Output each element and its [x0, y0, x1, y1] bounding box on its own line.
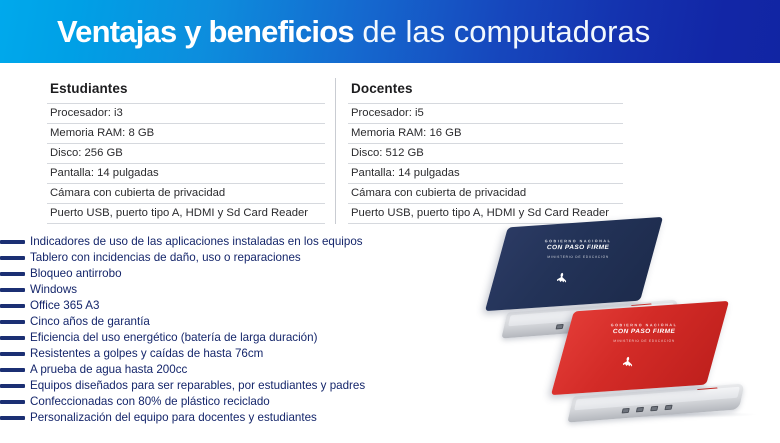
column-header-estudiantes: Estudiantes: [47, 78, 325, 103]
dash-bullet-icon: [0, 416, 25, 420]
table-row: Pantalla: 14 pulgadas: [348, 163, 623, 183]
list-item: Windows: [0, 282, 430, 298]
laptop-lid: GOBIERNO NACIONAL CON PASO FIRME MINISTE…: [485, 217, 663, 311]
list-item: A prueba de agua hasta 200cc: [0, 362, 430, 378]
laptop-lid-logo: GOBIERNO NACIONAL CON PASO FIRME MINISTE…: [500, 239, 656, 259]
table-row: Disco: 256 GB: [47, 143, 325, 163]
table-row: Procesador: i5: [348, 103, 623, 123]
table-row: Cámara con cubierta de privacidad: [47, 183, 325, 203]
spec-comparison-table: Estudiantes Procesador: i3 Memoria RAM: …: [47, 78, 623, 214]
dash-bullet-icon: [0, 368, 25, 372]
list-item: Eficiencia del uso energético (batería d…: [0, 330, 430, 346]
table-row: Puerto USB, puerto tipo A, HDMI y Sd Car…: [348, 203, 623, 224]
list-item-label: Office 365 A3: [30, 299, 99, 312]
table-row: Puerto USB, puerto tipo A, HDMI y Sd Car…: [47, 203, 325, 224]
header-banner: Ventajas y beneficios de las computadora…: [0, 0, 780, 63]
table-row: Memoria RAM: 16 GB: [348, 123, 623, 143]
dash-bullet-icon: [0, 384, 25, 388]
list-item-label: Cinco años de garantía: [30, 315, 150, 328]
table-row: Procesador: i3: [47, 103, 325, 123]
table-row: Disco: 512 GB: [348, 143, 623, 163]
list-item-label: Personalización del equipo para docentes…: [30, 411, 317, 424]
list-item: Resistentes a golpes y caídas de hasta 7…: [0, 346, 430, 362]
card-reader-port-icon: [664, 405, 672, 411]
dash-bullet-icon: [0, 256, 25, 260]
lid-brand-main: CON PASO FIRME: [500, 244, 656, 251]
lid-emblem-icon: [554, 271, 570, 287]
list-item: Confeccionadas con 80% de plástico recic…: [0, 394, 430, 410]
lid-brand-small: GOBIERNO NACIONAL: [566, 323, 722, 327]
dash-bullet-icon: [0, 272, 25, 276]
lid-brand-sub: MINISTERIO DE EDUCACIÓN: [500, 255, 656, 259]
list-item: Bloqueo antirrobo: [0, 266, 430, 282]
column-header-docentes: Docentes: [348, 78, 623, 103]
list-item: Indicadores de uso de las aplicaciones i…: [0, 234, 430, 250]
slide-canvas: Ventajas y beneficios de las computadora…: [0, 0, 780, 443]
usb-port-icon: [556, 324, 564, 330]
benefits-list: Indicadores de uso de las aplicaciones i…: [0, 234, 430, 426]
table-column-docentes: Docentes Procesador: i5 Memoria RAM: 16 …: [335, 78, 623, 224]
hdmi-port-icon: [650, 406, 658, 412]
list-item-label: Tablero con incidencias de daño, uso o r…: [30, 251, 301, 264]
usb-port-icon: [636, 407, 644, 413]
page-title-light: de las computadoras: [354, 14, 650, 49]
page-title-strong: Ventajas y beneficios: [57, 14, 354, 49]
dash-bullet-icon: [0, 352, 25, 356]
dash-bullet-icon: [0, 240, 25, 244]
list-item: Cinco años de garantía: [0, 314, 430, 330]
list-item-label: Confeccionadas con 80% de plástico recic…: [30, 395, 270, 408]
list-item: Office 365 A3: [0, 298, 430, 314]
list-item-label: Bloqueo antirrobo: [30, 267, 122, 280]
dash-bullet-icon: [0, 320, 25, 324]
list-item: Equipos diseñados para ser reparables, p…: [0, 378, 430, 394]
lid-emblem-icon: [620, 355, 636, 371]
laptop-product-images: GOBIERNO NACIONAL CON PASO FIRME MINISTE…: [480, 222, 780, 443]
page-title: Ventajas y beneficios de las computadora…: [57, 15, 650, 49]
table-row: Pantalla: 14 pulgadas: [47, 163, 325, 183]
list-item: Tablero con incidencias de daño, uso o r…: [0, 250, 430, 266]
laptop-red-image: GOBIERNO NACIONAL CON PASO FIRME MINISTE…: [564, 306, 764, 416]
list-item-label: Resistentes a golpes y caídas de hasta 7…: [30, 347, 263, 360]
dash-bullet-icon: [0, 304, 25, 308]
laptop-lid-logo: GOBIERNO NACIONAL CON PASO FIRME MINISTE…: [566, 323, 722, 343]
lid-brand-main: CON PASO FIRME: [566, 328, 722, 335]
table-row: Cámara con cubierta de privacidad: [348, 183, 623, 203]
list-item-label: Windows: [30, 283, 77, 296]
list-item: Personalización del equipo para docentes…: [0, 410, 430, 426]
laptop-lid: GOBIERNO NACIONAL CON PASO FIRME MINISTE…: [551, 301, 729, 395]
list-item-label: Indicadores de uso de las aplicaciones i…: [30, 235, 363, 248]
table-row: Memoria RAM: 8 GB: [47, 123, 325, 143]
list-item-label: Equipos diseñados para ser reparables, p…: [30, 379, 365, 392]
usb-port-icon: [622, 408, 630, 414]
table-column-estudiantes: Estudiantes Procesador: i3 Memoria RAM: …: [47, 78, 335, 224]
lid-brand-sub: MINISTERIO DE EDUCACIÓN: [566, 339, 722, 343]
base-accent-strip: [696, 387, 718, 394]
dash-bullet-icon: [0, 400, 25, 404]
lid-brand-small: GOBIERNO NACIONAL: [500, 239, 656, 243]
dash-bullet-icon: [0, 288, 25, 292]
list-item-label: Eficiencia del uso energético (batería d…: [30, 331, 317, 344]
list-item-label: A prueba de agua hasta 200cc: [30, 363, 187, 376]
dash-bullet-icon: [0, 336, 25, 340]
